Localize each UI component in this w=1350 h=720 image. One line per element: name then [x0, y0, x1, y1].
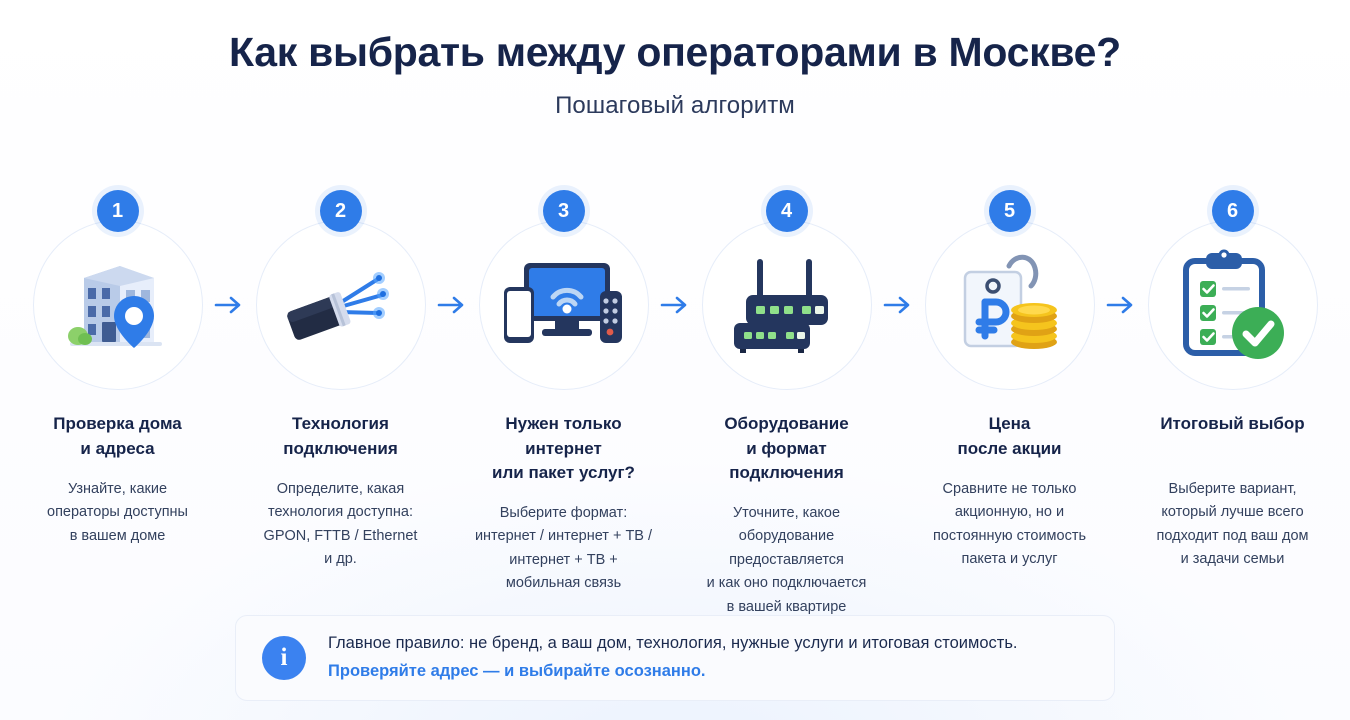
step-title-4: Оборудование и формат подключения — [695, 412, 878, 486]
step-number-badge-3: 3 — [543, 190, 585, 232]
infographic-page: Как выбрать между операторами в Москве? … — [0, 0, 1350, 720]
step-3: 3 — [472, 190, 655, 596]
step-number-badge-2: 2 — [320, 190, 362, 232]
step-5: 5 — [918, 190, 1101, 572]
step-desc-6: Выберите вариант, который лучше всего по… — [1157, 478, 1309, 572]
step-title-2: Технология подключения — [283, 412, 398, 462]
step-4: 4 — [695, 190, 878, 619]
step-title-5: Цена после акции — [958, 412, 1062, 462]
step-icon-circle-6 — [1148, 220, 1318, 390]
step-desc-2: Определите, какая технология доступна: G… — [264, 478, 418, 572]
step-desc-3: Выберите формат: интернет / интернет + Т… — [475, 502, 652, 596]
step-2: 2 — [249, 190, 432, 572]
step-desc-4: Уточните, какое оборудование предоставля… — [695, 502, 878, 619]
arrow-right-icon-4 — [878, 220, 918, 390]
step-icon-circle-2 — [256, 220, 426, 390]
step-title-3: Нужен только интернет или пакет услуг? — [472, 412, 655, 486]
step-number-badge-4: 4 — [766, 190, 808, 232]
step-icon-circle-1 — [33, 220, 203, 390]
step-desc-5: Сравните не только акционную, но и посто… — [933, 478, 1086, 572]
arrow-right-icon-3 — [655, 220, 695, 390]
step-6: 6 — [1141, 190, 1324, 572]
page-title: Как выбрать между операторами в Москве? — [0, 30, 1350, 76]
step-title-1: Проверка дома и адреса — [53, 412, 182, 462]
arrow-right-icon-5 — [1101, 220, 1141, 390]
step-number-badge-5: 5 — [989, 190, 1031, 232]
info-callout-line-2: Проверяйте адрес — и выбирайте осознанно… — [328, 661, 1018, 682]
header: Как выбрать между операторами в Москве? … — [0, 0, 1350, 120]
clipboard-checklist-check-icon — [1174, 247, 1292, 363]
step-number-badge-1: 1 — [97, 190, 139, 232]
step-title-6: Итоговый выбор — [1160, 412, 1304, 462]
step-icon-circle-4 — [702, 220, 872, 390]
info-callout-text: Главное правило: не бренд, а ваш дом, те… — [328, 633, 1018, 683]
step-number-badge-6: 6 — [1212, 190, 1254, 232]
building-location-pin-icon — [58, 250, 178, 360]
tv-phone-remote-wifi-icon — [498, 253, 630, 357]
arrow-right-icon-1 — [209, 220, 249, 390]
step-icon-circle-5 — [925, 220, 1095, 390]
fiber-optic-cable-icon — [278, 255, 404, 355]
arrow-right-icon-2 — [432, 220, 472, 390]
info-icon: i — [262, 636, 306, 680]
step-desc-1: Узнайте, какие операторы доступны в ваше… — [47, 478, 188, 548]
page-subtitle: Пошаговый алгоритм — [0, 92, 1350, 120]
info-callout: i Главное правило: не бренд, а ваш дом, … — [235, 615, 1115, 701]
price-tag-ruble-coins-icon — [951, 250, 1069, 360]
step-icon-circle-3 — [479, 220, 649, 390]
steps-row: 1 — [0, 190, 1350, 619]
router-modem-icon — [724, 253, 850, 357]
step-1: 1 — [26, 190, 209, 548]
info-callout-line-1: Главное правило: не бренд, а ваш дом, те… — [328, 633, 1018, 654]
